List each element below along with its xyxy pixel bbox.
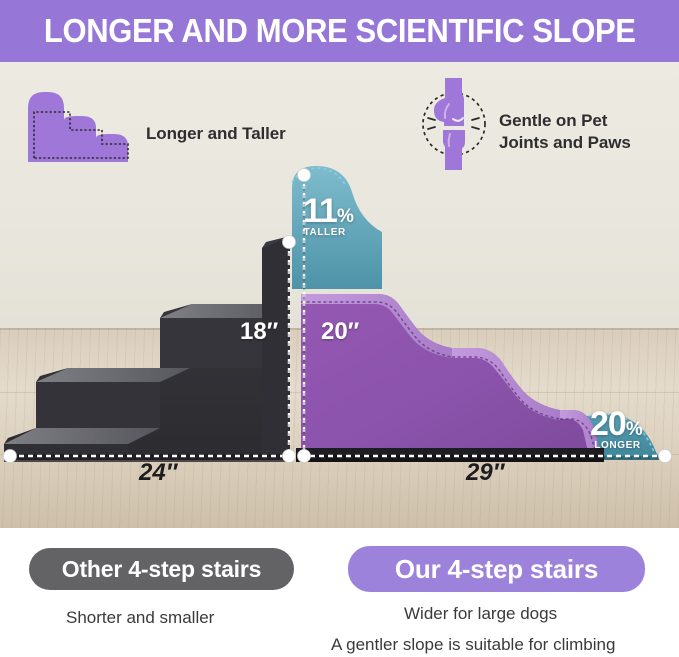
caption-ours-line1: Wider for large dogs (404, 604, 557, 624)
caption-ours-line2: A gentler slope is suitable for climbing (331, 635, 615, 655)
badge-taller: 11% TALLER (303, 192, 354, 238)
badge-longer-percent: % (626, 419, 643, 440)
badge-longer-number: 20 (590, 405, 626, 443)
length-label-other: 24″ (139, 459, 177, 487)
height-label-other: 18″ (240, 318, 278, 346)
badge-taller-percent: % (337, 206, 354, 227)
badge-taller-sub: TALLER (303, 227, 354, 238)
length-label-ours: 29″ (466, 459, 504, 487)
badge-longer: 20% LONGER (590, 405, 643, 451)
infographic-page: LONGER AND MORE SCIENTIFIC SLOPE Longer … (0, 0, 679, 657)
product-shapes (0, 62, 679, 528)
competitor-stairs-black (4, 236, 290, 462)
product-scene: Longer and Taller (0, 62, 679, 528)
pill-other-stairs: Other 4-step stairs (29, 548, 294, 590)
caption-other-line1: Shorter and smaller (66, 608, 214, 628)
caption-section: Other 4-step stairs Our 4-step stairs Sh… (0, 528, 679, 657)
badge-longer-sub: LONGER (590, 440, 643, 451)
banner-title: LONGER AND MORE SCIENTIFIC SLOPE (44, 12, 636, 50)
pill-our-stairs: Our 4-step stairs (348, 546, 645, 592)
header-banner: LONGER AND MORE SCIENTIFIC SLOPE (0, 0, 679, 62)
height-label-ours: 20″ (321, 318, 359, 346)
badge-taller-number: 11 (303, 192, 337, 230)
